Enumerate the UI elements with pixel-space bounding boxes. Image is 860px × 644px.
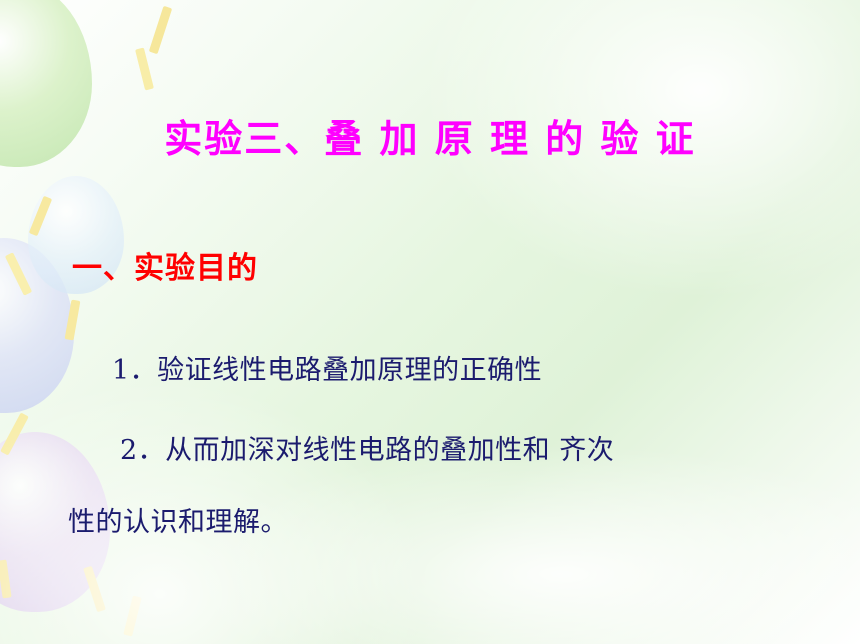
body-line-3: 性的认识和理解。 (68, 500, 288, 539)
presentation-slide: 实验三、叠 加 原 理 的 验 证 一、实验目的 1．验证线性电路叠加原理的正确… (0, 0, 860, 644)
slide-title: 实验三、叠 加 原 理 的 验 证 (0, 108, 860, 163)
section-heading: 一、实验目的 (72, 243, 258, 287)
body-line-2: 2．从而加深对线性电路的叠加性和 齐次 (120, 428, 614, 467)
slide-content: 实验三、叠 加 原 理 的 验 证 一、实验目的 1．验证线性电路叠加原理的正确… (0, 0, 860, 644)
body-line-1: 1．验证线性电路叠加原理的正确性 (112, 348, 542, 387)
